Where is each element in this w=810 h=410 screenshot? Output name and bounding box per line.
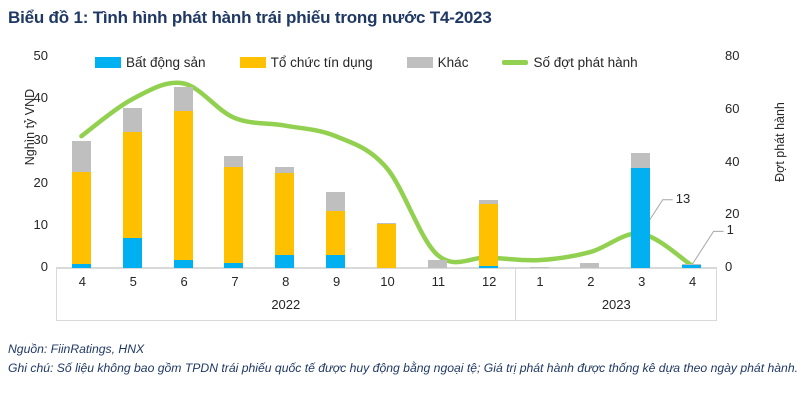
bar-segment[interactable] bbox=[479, 204, 498, 266]
bar-segment[interactable] bbox=[224, 167, 243, 263]
bar-segment[interactable] bbox=[174, 111, 193, 260]
bar-segment[interactable] bbox=[275, 167, 294, 173]
bar-column[interactable] bbox=[72, 57, 91, 268]
bar-segment[interactable] bbox=[682, 264, 701, 266]
month-tick-label: 9 bbox=[317, 274, 357, 289]
year-group-divider bbox=[515, 269, 516, 321]
month-tick-label: 4 bbox=[62, 274, 102, 289]
month-tick-label: 5 bbox=[113, 274, 153, 289]
category-axis: 456789101112123420222023 bbox=[56, 269, 717, 321]
chart-footer: Nguồn: FiinRatings, HNX Ghi chú: Số liệu… bbox=[8, 340, 798, 378]
left-tick-label: 0 bbox=[4, 259, 48, 274]
bar-segment[interactable] bbox=[580, 263, 599, 268]
bar-column[interactable] bbox=[580, 57, 599, 268]
bar-segment[interactable] bbox=[326, 255, 345, 268]
left-tick-label: 20 bbox=[4, 175, 48, 190]
bar-segment[interactable] bbox=[631, 153, 650, 167]
bar-segment[interactable] bbox=[631, 168, 650, 268]
bar-segment[interactable] bbox=[174, 260, 193, 268]
bar-segment[interactable] bbox=[224, 156, 243, 167]
bar-segment[interactable] bbox=[428, 260, 447, 268]
month-tick-label: 7 bbox=[215, 274, 255, 289]
month-tick-label: 2 bbox=[571, 274, 611, 289]
bar-segment[interactable] bbox=[326, 211, 345, 255]
bar-segment[interactable] bbox=[377, 223, 396, 225]
bar-segment[interactable] bbox=[479, 200, 498, 205]
bar-column[interactable] bbox=[275, 57, 294, 268]
month-tick-label: 6 bbox=[164, 274, 204, 289]
left-axis-title: Nghìn tỷ VND bbox=[23, 37, 37, 217]
bar-segment[interactable] bbox=[275, 255, 294, 269]
bar-segment[interactable] bbox=[530, 267, 549, 269]
bar-segment[interactable] bbox=[123, 132, 142, 238]
month-tick-label: 1 bbox=[520, 274, 560, 289]
plot-area: 131 bbox=[56, 57, 717, 268]
bar-segment[interactable] bbox=[377, 224, 396, 268]
footer-source: Nguồn: FiinRatings, HNX bbox=[8, 340, 798, 359]
bar-column[interactable] bbox=[682, 57, 701, 268]
bar-column[interactable] bbox=[479, 57, 498, 268]
bar-column[interactable] bbox=[326, 57, 345, 268]
left-tick-label: 50 bbox=[4, 48, 48, 63]
bar-column[interactable] bbox=[174, 57, 193, 268]
data-label: 1 bbox=[727, 222, 734, 237]
bar-segment[interactable] bbox=[123, 238, 142, 268]
bar-segment[interactable] bbox=[275, 173, 294, 254]
right-tick-label: 80 bbox=[725, 48, 769, 63]
bar-segment[interactable] bbox=[682, 265, 701, 268]
month-tick-label: 3 bbox=[622, 274, 662, 289]
bar-segment[interactable] bbox=[72, 141, 91, 171]
left-tick-label: 10 bbox=[4, 217, 48, 232]
bar-column[interactable] bbox=[530, 57, 549, 268]
month-tick-label: 10 bbox=[368, 274, 408, 289]
bar-segment[interactable] bbox=[479, 266, 498, 268]
bar-segment[interactable] bbox=[224, 263, 243, 268]
year-group-label: 2022 bbox=[226, 297, 346, 312]
bar-column[interactable] bbox=[631, 57, 650, 268]
bar-column[interactable] bbox=[377, 57, 396, 268]
data-label: 13 bbox=[676, 191, 690, 206]
chart-title: Biểu đồ 1: Tình hình phát hành trái phiế… bbox=[8, 8, 492, 28]
bar-segment[interactable] bbox=[72, 172, 91, 264]
month-tick-label: 11 bbox=[418, 274, 458, 289]
bar-column[interactable] bbox=[123, 57, 142, 268]
right-axis-title: Đợt phát hành bbox=[773, 52, 787, 232]
bar-column[interactable] bbox=[428, 57, 447, 268]
month-tick-label: 8 bbox=[266, 274, 306, 289]
bar-segment[interactable] bbox=[72, 264, 91, 268]
footer-note: Ghi chú: Số liệu không bao gồm TPDN trái… bbox=[8, 359, 798, 378]
chart-container: Biểu đồ 1: Tình hình phát hành trái phiế… bbox=[0, 0, 810, 410]
bar-segment[interactable] bbox=[326, 192, 345, 211]
bar-column[interactable] bbox=[224, 57, 243, 268]
left-tick-label: 30 bbox=[4, 132, 48, 147]
right-tick-label: 60 bbox=[725, 101, 769, 116]
month-tick-label: 12 bbox=[469, 274, 509, 289]
year-group-label: 2023 bbox=[556, 297, 676, 312]
bar-segment[interactable] bbox=[123, 108, 142, 132]
month-tick-label: 4 bbox=[673, 274, 713, 289]
left-tick-label: 40 bbox=[4, 90, 48, 105]
bar-segment[interactable] bbox=[174, 87, 193, 112]
right-tick-label: 20 bbox=[725, 206, 769, 221]
right-tick-label: 40 bbox=[725, 154, 769, 169]
right-tick-label: 0 bbox=[725, 259, 769, 274]
